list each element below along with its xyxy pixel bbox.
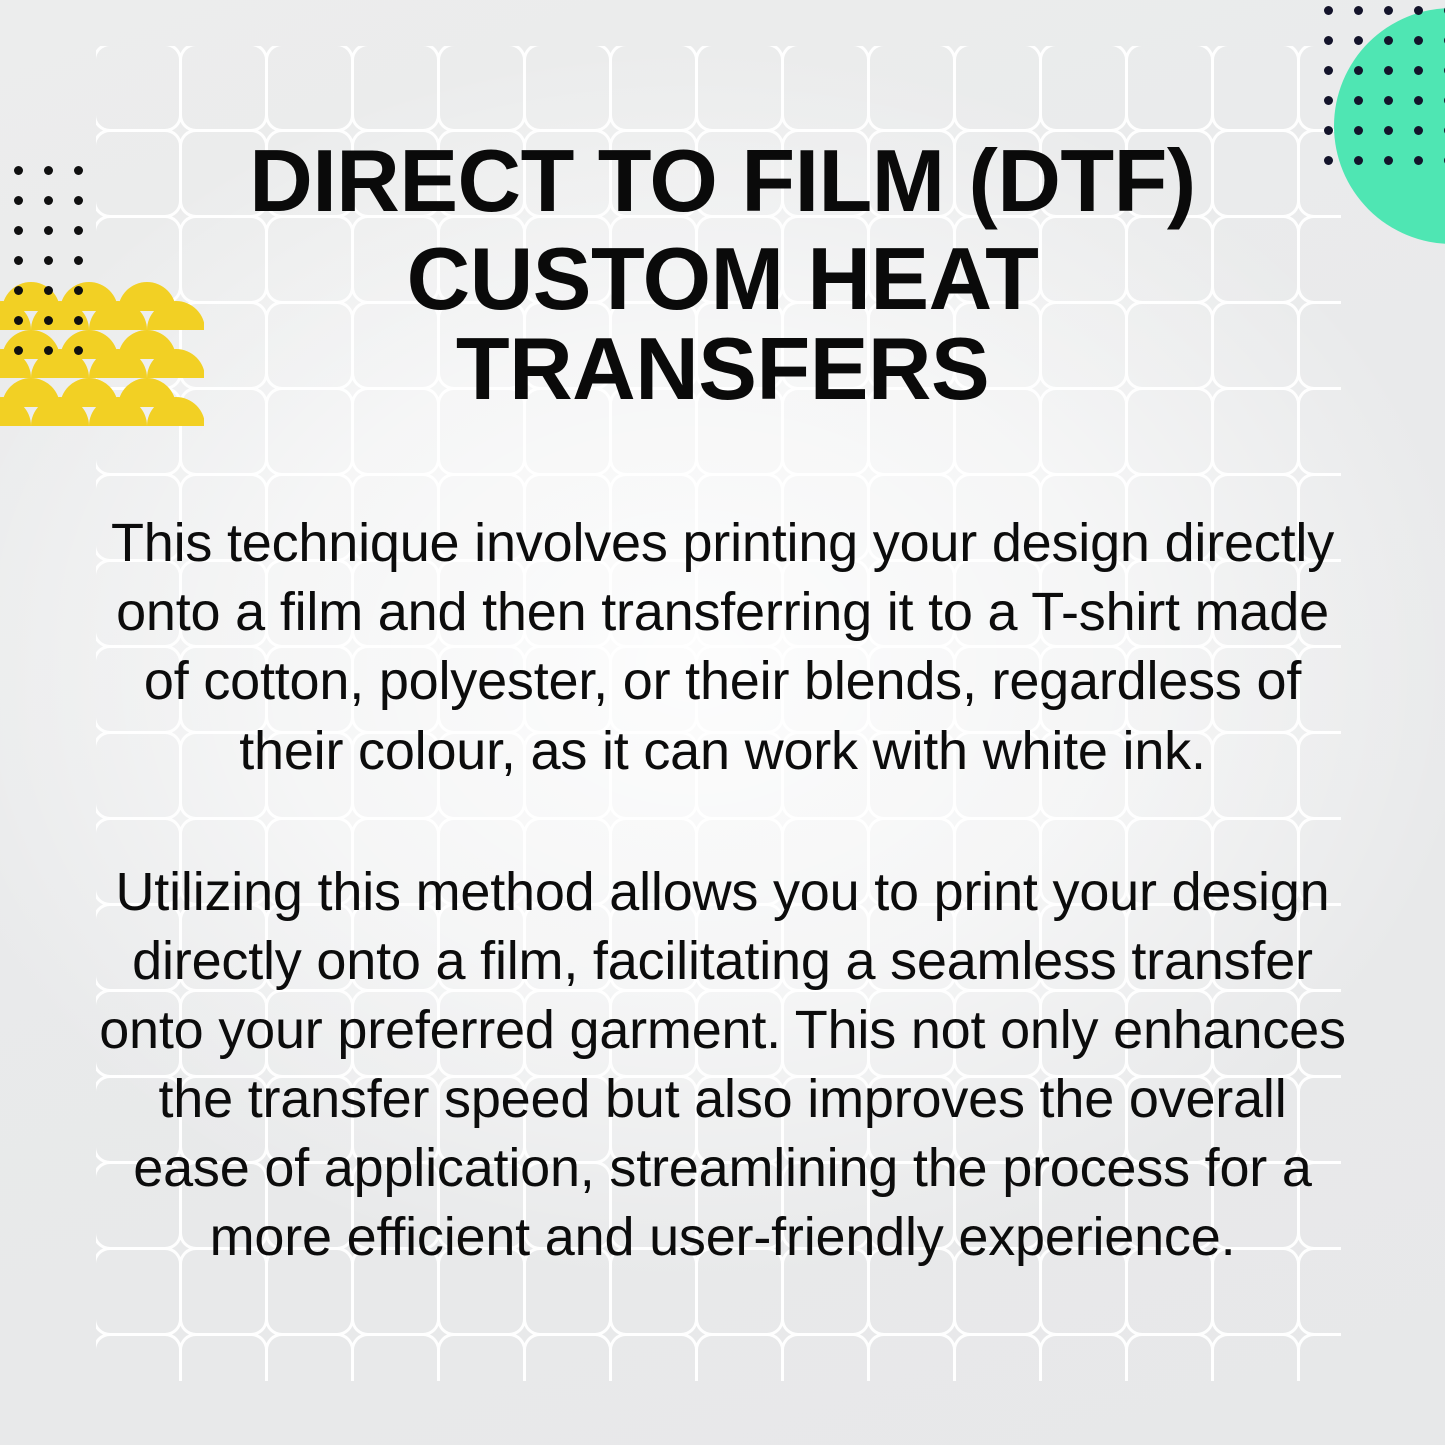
page-title: DIRECT TO FILM (DTF) CUSTOM HEAT TRANSFE… xyxy=(133,136,1313,413)
poster-content: DIRECT TO FILM (DTF) CUSTOM HEAT TRANSFE… xyxy=(0,0,1445,1445)
body-copy: This technique involves printing your de… xyxy=(95,509,1350,1272)
paragraph-2: Utilizing this method allows you to prin… xyxy=(95,858,1350,1273)
paragraph-1: This technique involves printing your de… xyxy=(95,509,1350,785)
title-line-2: CUSTOM HEAT TRANSFERS xyxy=(133,234,1313,414)
poster-canvas: DIRECT TO FILM (DTF) CUSTOM HEAT TRANSFE… xyxy=(0,0,1445,1445)
title-line-1: DIRECT TO FILM (DTF) xyxy=(133,136,1313,226)
